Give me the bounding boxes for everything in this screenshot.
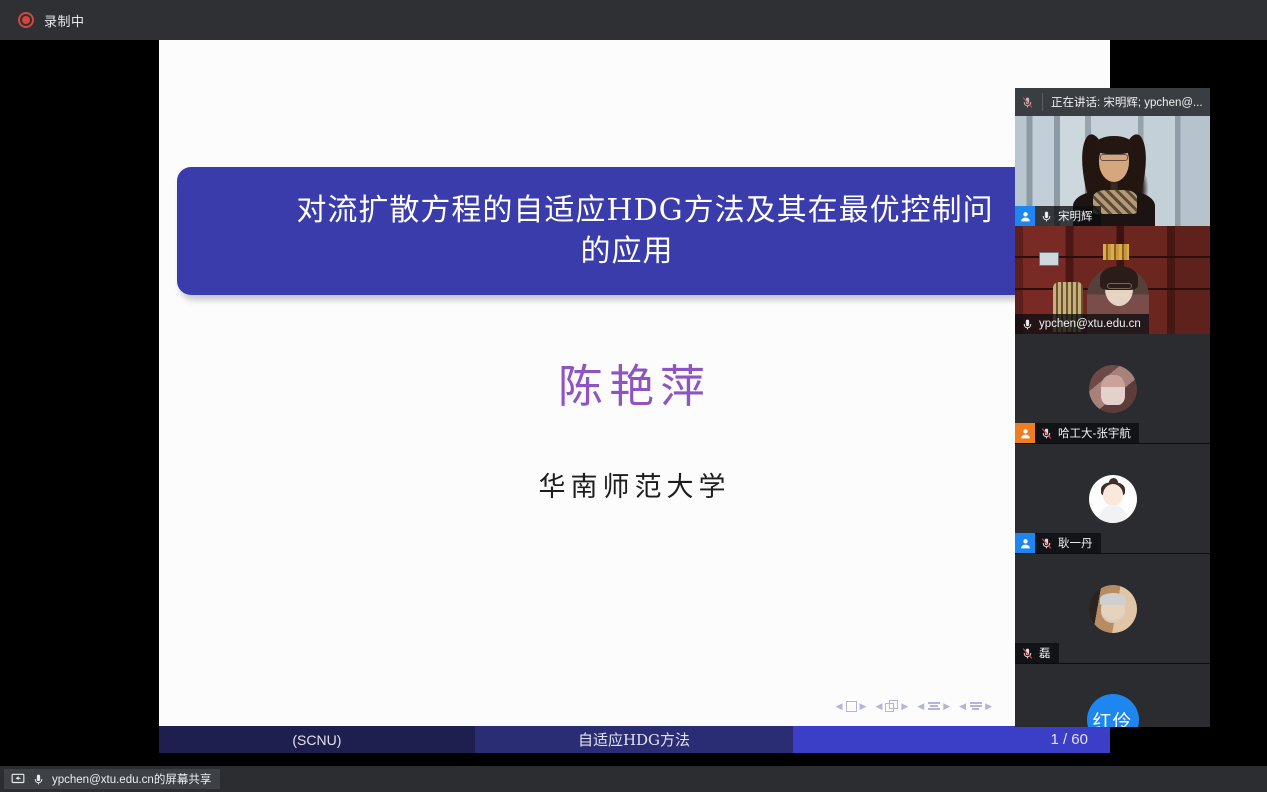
participant-nameplate: 耿一丹 (1015, 533, 1101, 553)
nav-prev-arrow-icon[interactable]: ◀ (959, 702, 966, 711)
video-decor (1103, 244, 1129, 260)
video-decor (1039, 252, 1059, 266)
mic-muted-icon (1040, 427, 1053, 440)
person-badge-blue-icon (1015, 533, 1035, 553)
nav-prev-arrow-icon[interactable]: ◀ (836, 702, 843, 711)
participant-name: 宋明辉 (1058, 208, 1093, 224)
avatar-initials: 红伶 (1087, 694, 1139, 727)
participant-tile-zhangyuhang[interactable]: 哈工大-张宇航 (1015, 334, 1210, 444)
mic-on-icon (1040, 210, 1053, 223)
participant-tile-hongling[interactable]: 红伶 (1015, 664, 1210, 727)
screen-share-task-button[interactable]: ypchen@xtu.edu.cn的屏幕共享 (4, 769, 220, 789)
recording-label: 录制中 (44, 11, 85, 30)
video-decor (1100, 154, 1128, 161)
slide-title-line-1: 对流扩散方程的自适应HDG方法及其在最优控制问 (296, 190, 993, 231)
record-dot-icon[interactable] (18, 12, 34, 28)
nav-subsection-bars-icon[interactable] (927, 702, 940, 710)
shared-screen-slide[interactable]: 对流扩散方程的自适应HDG方法及其在最优控制问 的应用 陈艳萍 华南师范大学 ◀… (159, 40, 1110, 726)
avatar-photo (1089, 585, 1137, 633)
frame-nav-icon[interactable]: ◀ ▶ (875, 700, 908, 712)
person-badge-orange-icon (1015, 423, 1035, 443)
participant-name: 磊 (1039, 645, 1051, 661)
footer-section-title: 自适应HDG方法 (475, 726, 794, 753)
nav-next-arrow-icon[interactable]: ▶ (901, 702, 908, 711)
slide-author: 陈艳萍 (159, 350, 1110, 415)
avatar-cartoon (1089, 475, 1137, 523)
mic-muted-icon (1021, 96, 1034, 109)
participant-tile-lei[interactable]: 磊 (1015, 554, 1210, 664)
header-divider (1042, 93, 1043, 111)
nav-next-arrow-icon[interactable]: ▶ (985, 702, 992, 711)
video-decor (1095, 136, 1133, 154)
participant-name: 耿一丹 (1058, 535, 1093, 551)
subsection-nav-icon[interactable]: ◀ ▶ (917, 702, 950, 711)
screen-share-icon (11, 772, 25, 786)
participant-name: ypchen@xtu.edu.cn (1039, 318, 1141, 330)
screen-share-label: ypchen@xtu.edu.cn的屏幕共享 (52, 771, 211, 787)
section-nav-icon[interactable]: ◀ ▶ (959, 702, 992, 711)
zoom-meeting-window: 录制中 对流扩散方程的自适应HDG方法及其在最优控制问 的应用 陈艳萍 华南师范… (0, 0, 1267, 792)
slide-title-line-2: 的应用 (581, 231, 674, 272)
nav-next-arrow-icon[interactable]: ▶ (943, 702, 950, 711)
participants-video-panel[interactable]: 正在讲话: 宋明辉; ypchen@... (1015, 88, 1210, 727)
nav-section-bars-icon[interactable] (969, 702, 982, 710)
recording-bar: 录制中 (0, 0, 1267, 40)
nav-frame-stack-icon[interactable] (885, 700, 898, 712)
footer-page-number: 1 / 60 (793, 726, 1110, 753)
speaking-label: 正在讲话: 宋明辉; ypchen@... (1051, 94, 1203, 110)
participant-name: 哈工大-张宇航 (1058, 425, 1131, 441)
participant-tile-gengyidan[interactable]: 耿一丹 (1015, 444, 1210, 554)
taskbar: ypchen@xtu.edu.cn的屏幕共享 (0, 766, 1267, 792)
nav-prev-arrow-icon[interactable]: ◀ (875, 702, 882, 711)
beamer-navigation-symbols: ◀ ▶ ◀ ▶ ◀ ▶ ◀ ▶ (836, 700, 992, 712)
mic-on-icon (1021, 318, 1034, 331)
avatar-photo (1089, 365, 1137, 413)
nav-next-arrow-icon[interactable]: ▶ (860, 702, 867, 711)
avatar: 红伶 (1015, 664, 1210, 727)
slide-title-box: 对流扩散方程的自适应HDG方法及其在最优控制问 的应用 (177, 167, 1077, 295)
video-decor (1107, 283, 1132, 289)
person-badge-blue-icon (1015, 206, 1035, 226)
slide-footer-bar: (SCNU) 自适应HDG方法 1 / 60 (159, 726, 1110, 753)
panel-speaking-header[interactable]: 正在讲话: 宋明辉; ypchen@... (1015, 88, 1210, 116)
participant-nameplate: 宋明辉 (1015, 206, 1101, 226)
slide-institute: 华南师范大学 (159, 465, 1110, 504)
participant-nameplate: 磊 (1015, 643, 1059, 663)
mic-muted-icon (1021, 647, 1034, 660)
mic-on-icon (32, 773, 45, 786)
participant-tile-songminghui[interactable]: 宋明辉 (1015, 116, 1210, 226)
nav-slide-box-icon[interactable] (846, 701, 857, 712)
slide-nav-icon[interactable]: ◀ ▶ (836, 701, 867, 712)
nav-prev-arrow-icon[interactable]: ◀ (917, 702, 924, 711)
footer-institution: (SCNU) (159, 726, 475, 753)
participant-nameplate: 哈工大-张宇航 (1015, 423, 1139, 443)
mic-muted-icon (1040, 537, 1053, 550)
participant-tile-ypchen[interactable]: ypchen@xtu.edu.cn (1015, 226, 1210, 334)
participant-nameplate: ypchen@xtu.edu.cn (1015, 314, 1149, 334)
